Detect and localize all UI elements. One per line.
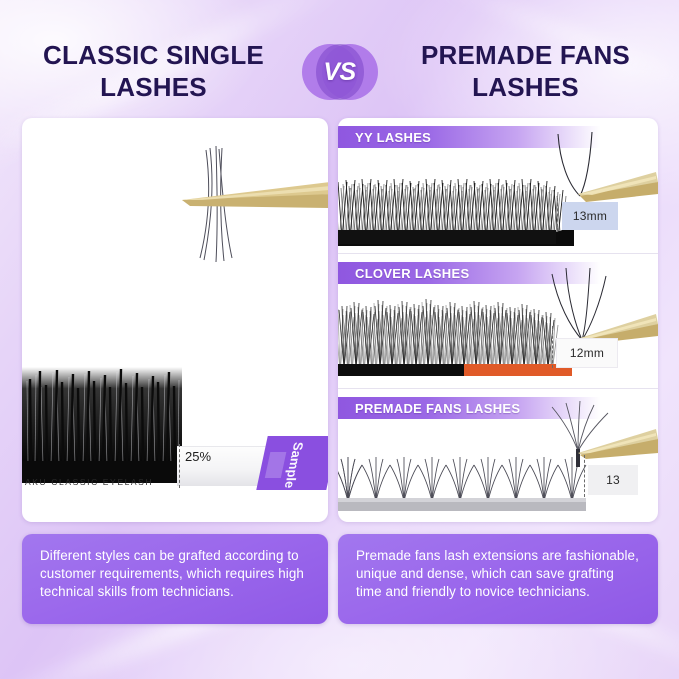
sample-sticker: Sample	[256, 436, 328, 490]
premade-measure-dash	[584, 455, 585, 497]
header: CLASSIC SINGLE LASHES VS PREMADE FANS LA…	[0, 26, 679, 118]
premade-fans-lashes-label: PREMADE FANS LASHES	[338, 401, 520, 416]
yy-measure-dash	[557, 198, 558, 232]
section-yy-lashes: YY LASHES	[338, 118, 658, 253]
premade-caption: Premade fans lash extensions are fashion…	[338, 534, 658, 624]
vs-badge: VS	[302, 41, 378, 103]
clover-measure-chip: 12mm	[556, 338, 618, 368]
left-title: CLASSIC SINGLE LASHES	[12, 40, 302, 103]
right-title: PREMADE FANS LASHES	[378, 40, 668, 103]
clover-measure-dash	[552, 326, 553, 368]
section-clover-lashes: CLOVER LASHES	[338, 253, 658, 388]
classic-lash-tray	[22, 361, 182, 483]
tray-brand-text: AKU CLASSIC EYELASH	[25, 477, 153, 487]
premade-measure-chip: 13	[588, 465, 638, 495]
premade-fans-card: YY LASHES	[338, 118, 658, 522]
scattered-single-lashes	[22, 518, 328, 522]
classic-caption: Different styles can be grafted accordin…	[22, 534, 328, 624]
clover-lashes-label: CLOVER LASHES	[338, 266, 469, 281]
yy-measure-chip: 13mm	[562, 202, 618, 230]
classic-tweezer-illustration	[162, 138, 328, 268]
classic-lashes-card: AKU CLASSIC EYELASH 25% Sample	[22, 118, 328, 522]
percent-label: 25%	[185, 449, 211, 464]
section-premade-fans-lashes: PREMADE FANS LASHES	[338, 388, 658, 522]
sticker-text: Sample	[282, 442, 307, 488]
measure-dash-line	[179, 444, 180, 488]
vs-label: VS	[323, 58, 355, 87]
infographic-canvas: CLASSIC SINGLE LASHES VS PREMADE FANS LA…	[0, 0, 679, 679]
sticker-gloss	[265, 452, 287, 478]
